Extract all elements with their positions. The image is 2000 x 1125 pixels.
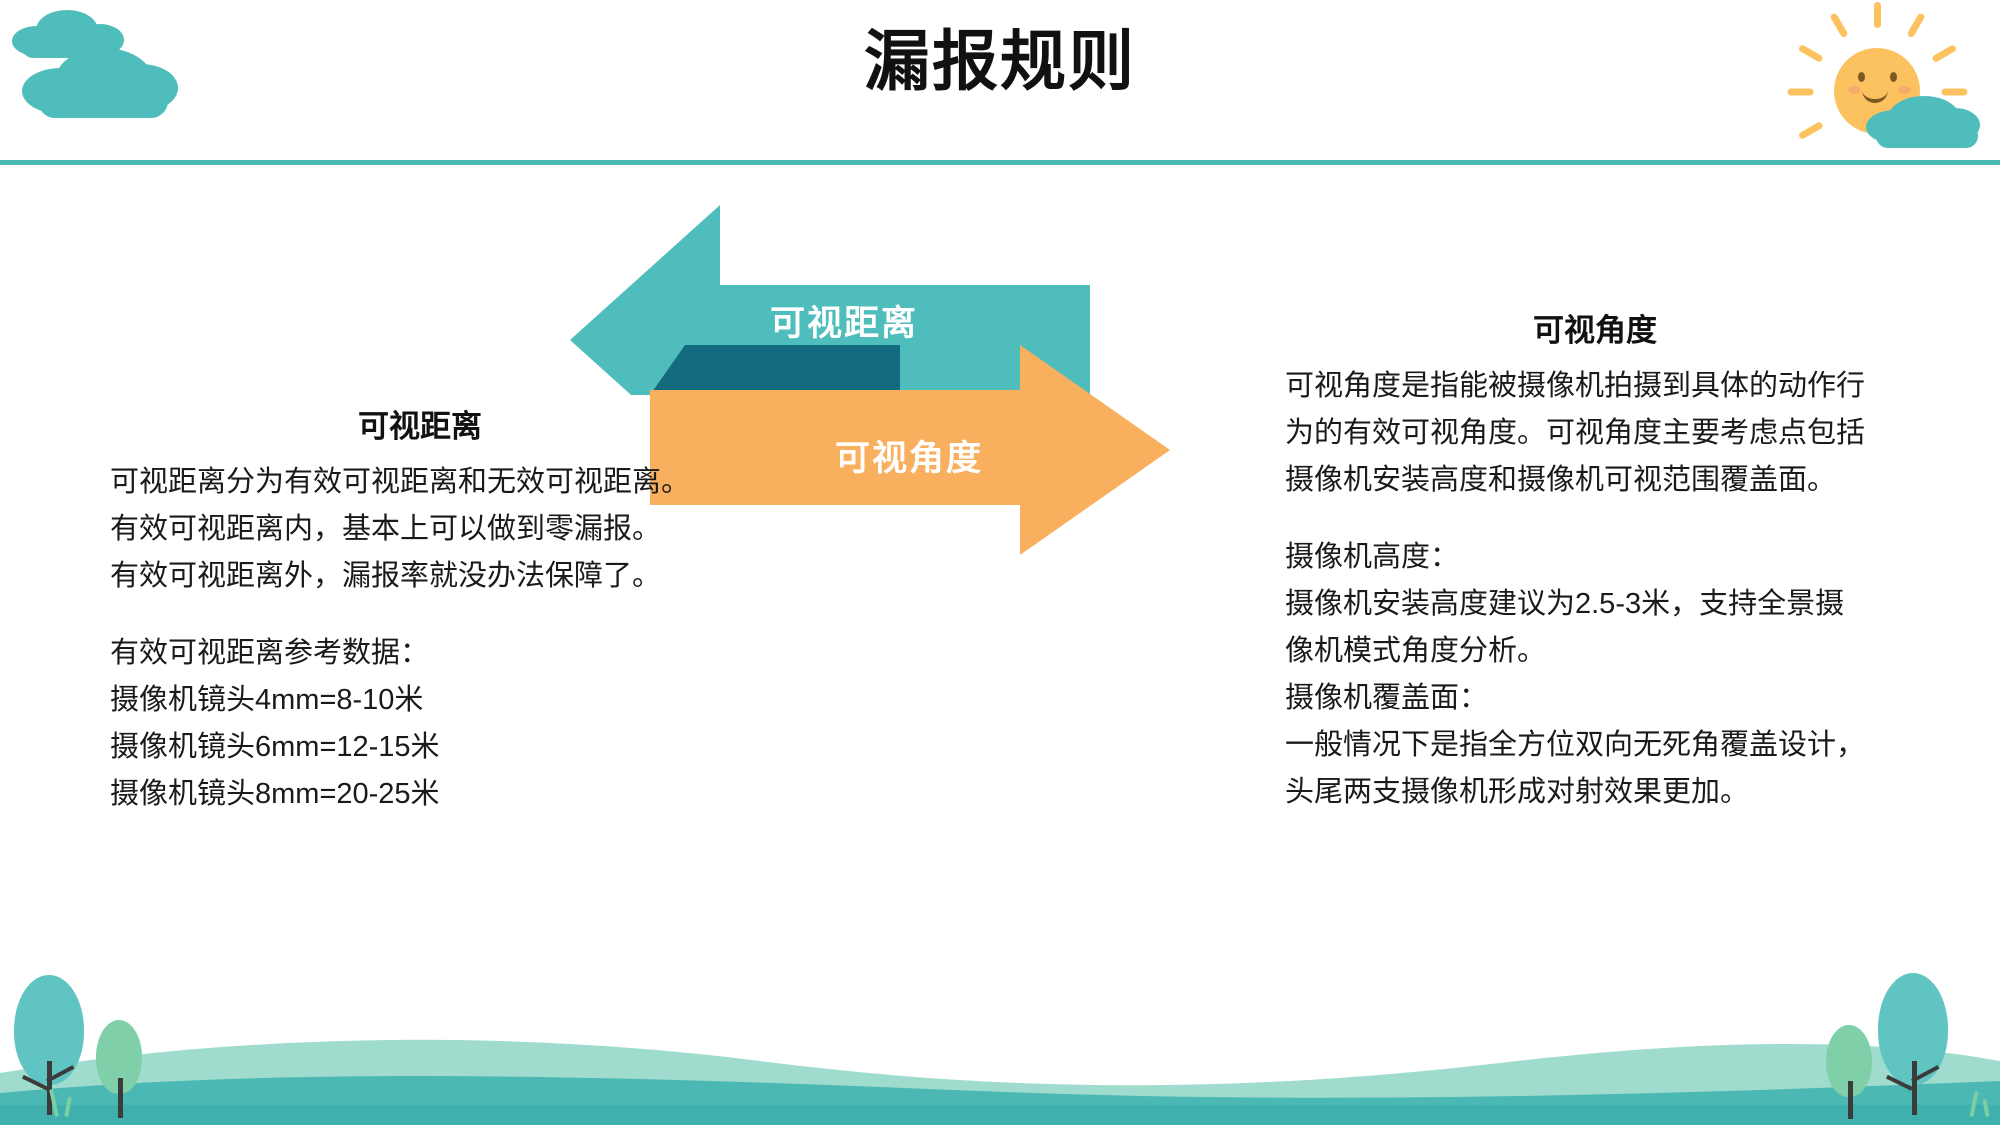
left-column-body: 可视距离分为有效可视距离和无效可视距离。 有效可视距离内，基本上可以做到零漏报。… [110,459,730,818]
right-p2-line-6: 头尾两支摄像机形成对射效果更加。 [1285,769,1905,816]
right-p2-line-2: 摄像机安装高度建议为2.5-3米，支持全景摄 [1285,581,1905,628]
left-p1-line-3: 有效可视距离外，漏报率就没办法保障了。 [110,553,730,600]
left-p2-line-4: 摄像机镜头8mm=20-25米 [110,771,730,818]
right-p1-line-1: 可视角度是指能被摄像机拍摄到具体的动作行 [1285,363,1905,410]
left-p1-line-1: 可视距离分为有效可视距离和无效可视距离。 [110,459,730,506]
right-p2-line-3: 像机模式角度分析。 [1285,628,1905,675]
left-column-heading: 可视距离 [110,408,730,445]
hill-icon [0,965,2000,1125]
arrow-left-label: 可视距离 [770,295,918,346]
tree-icon [1868,973,1960,1115]
left-text-column: 可视距离 可视距离分为有效可视距离和无效可视距离。 有效可视距离内，基本上可以做… [110,408,730,818]
right-text-column: 可视角度 可视角度是指能被摄像机拍摄到具体的动作行 为的有效可视角度。可视角度主… [1285,312,1905,816]
tree-icon [1820,1017,1880,1119]
right-p2-line-1: 摄像机高度： [1285,534,1905,581]
right-column-heading: 可视角度 [1285,312,1905,349]
right-p1-line-3: 摄像机安装高度和摄像机可视范围覆盖面。 [1285,457,1905,504]
left-p2-line-1: 有效可视距离参考数据： [110,630,730,677]
left-p1-line-2: 有效可视距离内，基本上可以做到零漏报。 [110,506,730,553]
slide-footer-scenery [0,965,2000,1125]
left-p2-line-2: 摄像机镜头4mm=8-10米 [110,677,730,724]
slide-canvas: 漏报规则 可视距离 可视角度 可视距离 可视距离分为有效可视距离和无效可视距离。… [0,0,2000,1125]
slide-header: 漏报规则 [0,0,2000,166]
right-p1-line-2: 为的有效可视角度。可视角度主要考虑点包括 [1285,410,1905,457]
page-title: 漏报规则 [0,28,2000,94]
tree-icon [90,1014,150,1119]
left-paragraph-spacer [110,600,730,630]
left-p2-line-3: 摄像机镜头6mm=12-15米 [110,724,730,771]
right-p2-line-4: 摄像机覆盖面： [1285,675,1905,722]
right-paragraph-spacer [1285,504,1905,534]
header-divider [0,160,2000,165]
right-p2-line-5: 一般情况下是指全方位双向无死角覆盖设计， [1285,722,1905,769]
right-column-body: 可视角度是指能被摄像机拍摄到具体的动作行 为的有效可视角度。可视角度主要考虑点包… [1285,363,1905,816]
arrow-right-label: 可视角度 [835,430,983,481]
